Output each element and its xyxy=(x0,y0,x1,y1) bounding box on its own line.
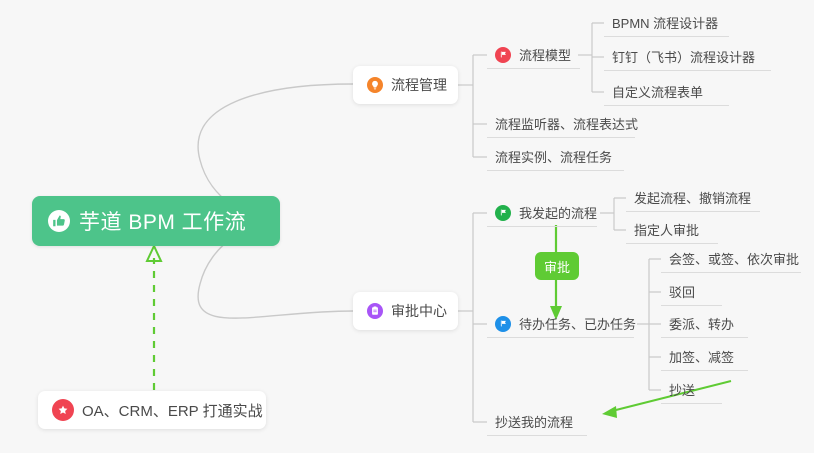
node-start-cancel-process[interactable]: 发起流程、撤销流程 xyxy=(626,184,760,212)
node-label: 发起流程、撤销流程 xyxy=(634,188,751,207)
node-reject[interactable]: 驳回 xyxy=(661,278,722,306)
node-cc-my-processes[interactable]: 抄送我的流程 xyxy=(487,408,587,436)
star-icon xyxy=(52,399,74,421)
flag-icon xyxy=(495,47,511,63)
flag-icon xyxy=(495,316,511,332)
node-label: 指定人审批 xyxy=(634,220,699,239)
root-label: 芋道 BPM 工作流 xyxy=(79,206,246,236)
branch-node-approval-center[interactable]: 审批中心 xyxy=(353,292,458,330)
node-process-listener[interactable]: 流程监听器、流程表达式 xyxy=(487,110,635,138)
branch-label-process-mgmt: 流程管理 xyxy=(391,75,447,95)
node-countersign[interactable]: 会签、或签、依次审批 xyxy=(661,245,801,273)
branch-label-approval-center: 审批中心 xyxy=(391,301,447,321)
node-label: 驳回 xyxy=(669,282,695,301)
integration-node[interactable]: OA、CRM、ERP 打通实战 xyxy=(38,391,266,429)
annotation-badge-label: 审批 xyxy=(544,257,570,276)
node-delegate-transfer[interactable]: 委派、转办 xyxy=(661,310,748,338)
node-label: 抄送我的流程 xyxy=(495,412,573,431)
node-todo-tasks[interactable]: 待办任务、已办任务 xyxy=(487,310,634,338)
node-label: 抄送 xyxy=(669,380,695,399)
node-label: 待办任务、已办任务 xyxy=(519,314,636,333)
annotation-badge-approval: 审批 xyxy=(535,252,579,280)
root-node[interactable]: 芋道 BPM 工作流 xyxy=(32,196,280,246)
branch-node-process-mgmt[interactable]: 流程管理 xyxy=(353,66,458,104)
node-custom-form[interactable]: 自定义流程表单 xyxy=(604,78,729,106)
node-process-model[interactable]: 流程模型 xyxy=(487,41,580,69)
node-add-remove-sign[interactable]: 加签、减签 xyxy=(661,343,748,371)
node-dingtalk-designer[interactable]: 钉钉（飞书）流程设计器 xyxy=(604,43,771,71)
node-label: 加签、减签 xyxy=(669,347,734,366)
node-carbon-copy[interactable]: 抄送 xyxy=(661,376,722,404)
annotation-arrow-integration-head xyxy=(147,246,161,261)
thumbs-up-icon xyxy=(48,210,70,232)
node-label: 委派、转办 xyxy=(669,314,734,333)
node-label: 流程监听器、流程表达式 xyxy=(495,114,638,133)
node-label: 钉钉（飞书）流程设计器 xyxy=(612,47,755,66)
node-label: 会签、或签、依次审批 xyxy=(669,249,799,268)
node-my-processes[interactable]: 我发起的流程 xyxy=(487,199,597,227)
node-label: 流程模型 xyxy=(519,45,571,64)
flag-icon xyxy=(495,205,511,221)
node-label: 流程实例、流程任务 xyxy=(495,147,612,166)
node-bpmn-designer[interactable]: BPMN 流程设计器 xyxy=(604,9,729,37)
node-label: 自定义流程表单 xyxy=(612,82,703,101)
mindmap-canvas: 芋道 BPM 工作流 流程管理 审批中心 xyxy=(0,0,814,453)
node-process-instance[interactable]: 流程实例、流程任务 xyxy=(487,143,624,171)
lightbulb-icon xyxy=(367,77,383,93)
clipboard-icon xyxy=(367,303,383,319)
annotation-arrow-copy-head xyxy=(602,406,617,418)
node-assignee-approval[interactable]: 指定人审批 xyxy=(626,216,718,244)
node-label: 我发起的流程 xyxy=(519,203,597,222)
node-label: BPMN 流程设计器 xyxy=(612,13,718,32)
integration-label: OA、CRM、ERP 打通实战 xyxy=(82,400,263,421)
